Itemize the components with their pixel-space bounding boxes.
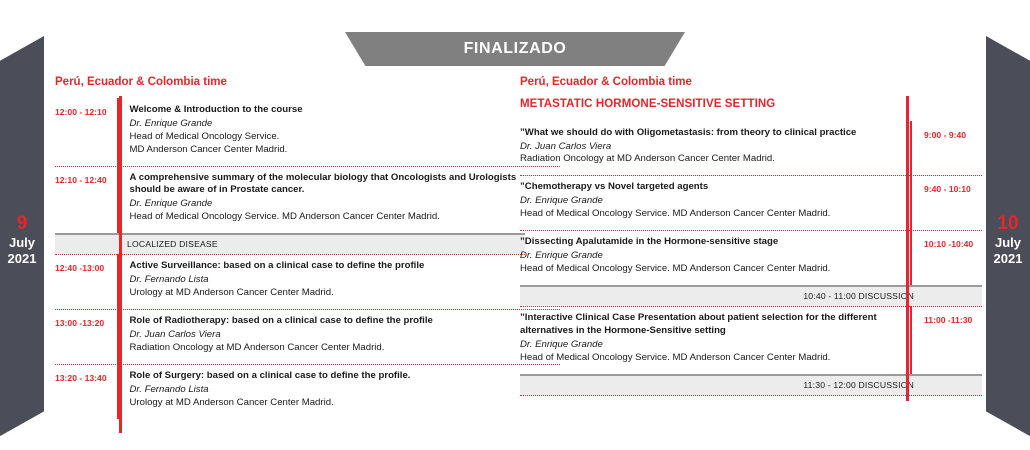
agenda-row-title: Active Surveillance: based on a clinical… (130, 260, 526, 273)
agenda-page: 9 July 2021 10 July 2021 FINALIZADO Perú… (0, 0, 1030, 450)
date-month-day1: July (0, 235, 44, 251)
agenda-section-band-label: 11:30 - 12:00 DISCUSSION (803, 380, 914, 390)
agenda-row-body: ”Chemotherapy vs Novel targeted agentsDr… (520, 175, 910, 230)
timeline-spine-day1 (119, 96, 122, 433)
agenda-row: ”Interactive Clinical Case Presentation … (520, 306, 982, 374)
agenda-rows-day1: 12:00 - 12:10Welcome & Introduction to t… (55, 98, 525, 419)
agenda-column-day2: Perú, Ecuador & Colombia time METASTATIC… (520, 76, 982, 395)
agenda-row-affiliation: Head of Medical Oncology Service. MD And… (520, 263, 900, 276)
agenda-column-day1: Perú, Ecuador & Colombia time 12:00 - 12… (55, 76, 525, 419)
agenda-row: 13:00 -13:20Role of Radiotherapy: based … (55, 309, 525, 364)
agenda-row-time: 9:00 - 9:40 (912, 121, 982, 176)
date-panel-day2-inner: 10 July 2021 (986, 213, 1030, 267)
agenda-row: ”Dissecting Apalutamide in the Hormone-s… (520, 230, 982, 285)
agenda-row: 13:20 - 13:40Role of Surgery: based on a… (55, 364, 525, 419)
agenda-row: 12:00 - 12:10Welcome & Introduction to t… (55, 98, 525, 166)
agenda-row-speaker: Dr. Enrique Grande (520, 339, 900, 352)
agenda-section-band-label: LOCALIZED DISEASE (127, 239, 218, 249)
agenda-row: ”What we should do with Oligometastasis:… (520, 121, 982, 176)
agenda-row-body: ”Interactive Clinical Case Presentation … (520, 306, 910, 374)
agenda-section-band: 11:30 - 12:00 DISCUSSION (520, 374, 982, 395)
agenda-row-title: ”Chemotherapy vs Novel targeted agents (520, 181, 900, 194)
agenda-row-time: 12:00 - 12:10 (55, 98, 117, 166)
agenda-row-time: 9:40 - 10:10 (912, 175, 982, 230)
agenda-row-title: Welcome & Introduction to the course (130, 104, 526, 117)
agenda-row: ”Chemotherapy vs Novel targeted agentsDr… (520, 175, 982, 230)
agenda-row-time: 13:00 -13:20 (55, 309, 117, 364)
status-banner: FINALIZADO (345, 32, 685, 66)
agenda-section-band: LOCALIZED DISEASE (55, 233, 525, 254)
agenda-row-time: 12:40 -13:00 (55, 254, 117, 309)
agenda-row-speaker: Dr. Enrique Grande (520, 195, 900, 208)
agenda-row-title: ”Interactive Clinical Case Presentation … (520, 312, 900, 338)
agenda-row-affiliation: Head of Medical Oncology Service. MD And… (130, 211, 526, 224)
date-year-day2: 2021 (986, 251, 1030, 267)
status-banner-label: FINALIZADO (464, 40, 567, 58)
agenda-row-title: ”What we should do with Oligometastasis:… (520, 127, 900, 140)
agenda-row-affiliation: Head of Medical Oncology Service. MD And… (520, 352, 900, 365)
section-title-day2: METASTATIC HORMONE-SENSITIVE SETTING (520, 98, 982, 112)
date-panel-day1-inner: 9 July 2021 (0, 213, 44, 267)
agenda-row-title: Role of Radiotherapy: based on a clinica… (130, 315, 526, 328)
agenda-row-title: A comprehensive summary of the molecular… (130, 172, 526, 198)
date-day-number-day2: 10 (986, 213, 1030, 235)
agenda-row-affiliation: Radiation Oncology at MD Anderson Cancer… (130, 342, 526, 355)
agenda-row-body: Welcome & Introduction to the courseDr. … (120, 98, 526, 166)
agenda-row-affiliation: Head of Medical Oncology Service. (130, 131, 526, 144)
agenda-row-body: Role of Radiotherapy: based on a clinica… (120, 309, 526, 364)
agenda-section-band: 10:40 - 11:00 DISCUSSION (520, 285, 982, 306)
agenda-row-body: ”Dissecting Apalutamide in the Hormone-s… (520, 230, 910, 285)
agenda-row-time: 10:10 -10:40 (912, 230, 982, 285)
agenda-row-body: A comprehensive summary of the molecular… (120, 166, 526, 234)
date-panel-day1: 9 July 2021 (0, 36, 44, 444)
agenda-row-speaker: Dr. Enrique Grande (130, 118, 526, 131)
agenda-row-body: Role of Surgery: based on a clinical cas… (120, 364, 526, 419)
date-year-day1: 2021 (0, 251, 44, 267)
agenda-row: 12:40 -13:00Active Surveillance: based o… (55, 254, 525, 309)
agenda-row-affiliation: Head of Medical Oncology Service. MD And… (520, 208, 900, 221)
timezone-title-day1: Perú, Ecuador & Colombia time (55, 76, 525, 90)
agenda-row-body: ”What we should do with Oligometastasis:… (520, 121, 910, 176)
agenda-row-speaker: Dr. Juan Carlos Viera (520, 141, 900, 154)
agenda-row-body: Active Surveillance: based on a clinical… (120, 254, 526, 309)
agenda-row-affiliation: Urology at MD Anderson Cancer Center Mad… (130, 287, 526, 300)
agenda-rows-day2: ”What we should do with Oligometastasis:… (520, 121, 982, 395)
agenda-row-affiliation: MD Anderson Cancer Center Madrid. (130, 144, 526, 157)
agenda-row-speaker: Dr. Fernando Lista (130, 274, 526, 287)
date-panel-day2: 10 July 2021 (986, 36, 1030, 444)
agenda-row-title: ”Dissecting Apalutamide in the Hormone-s… (520, 236, 900, 249)
agenda-row-speaker: Dr. Fernando Lista (130, 384, 526, 397)
agenda-row-speaker: Dr. Enrique Grande (520, 250, 900, 263)
agenda-row-affiliation: Radiation Oncology at MD Anderson Cancer… (520, 153, 900, 166)
date-month-day2: July (986, 235, 1030, 251)
agenda-row: 12:10 - 12:40A comprehensive summary of … (55, 166, 525, 234)
agenda-row-speaker: Dr. Juan Carlos Viera (130, 329, 526, 342)
timezone-title-day2: Perú, Ecuador & Colombia time (520, 76, 982, 90)
agenda-row-title: Role of Surgery: based on a clinical cas… (130, 370, 526, 383)
agenda-row-speaker: Dr. Enrique Grande (130, 198, 526, 211)
date-day-number-day1: 9 (0, 213, 44, 235)
agenda-row-time: 13:20 - 13:40 (55, 364, 117, 419)
agenda-row-time: 12:10 - 12:40 (55, 166, 117, 234)
agenda-row-affiliation: Urology at MD Anderson Cancer Center Mad… (130, 397, 526, 410)
agenda-section-band-label: 10:40 - 11:00 DISCUSSION (803, 291, 914, 301)
agenda-row-time: 11:00 -11:30 (912, 306, 982, 374)
timeline-spine-day2 (906, 96, 909, 401)
